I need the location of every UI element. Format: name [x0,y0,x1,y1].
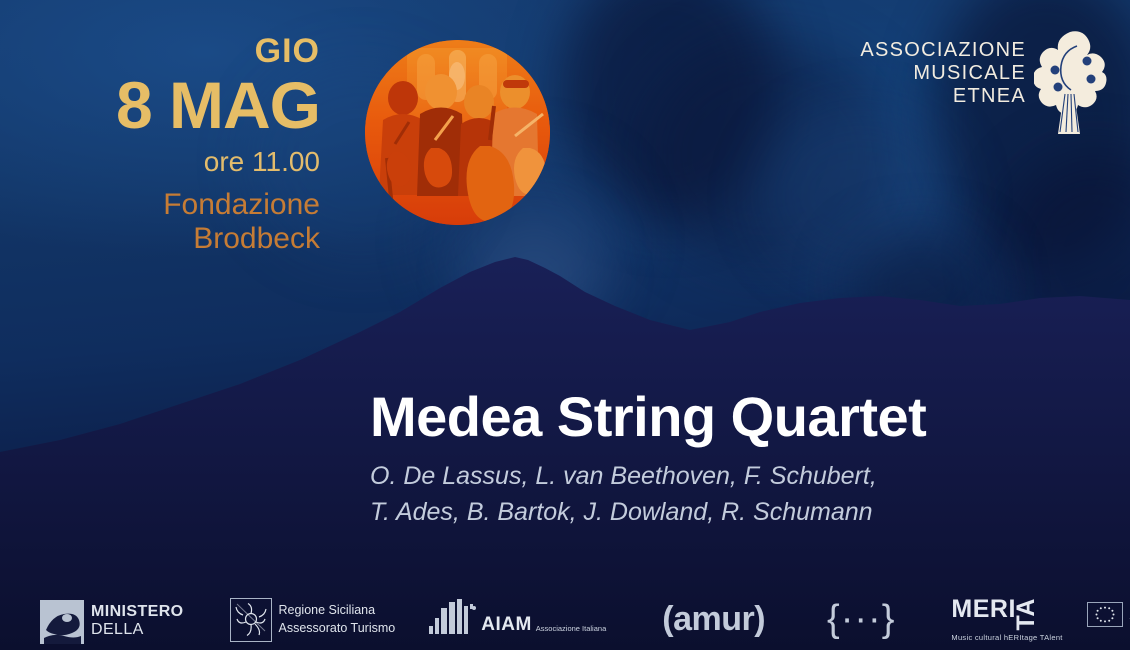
org-line-1: ASSOCIAZIONE [860,39,1026,62]
logo-aiam: AIAM Associazione Italiana [429,590,606,634]
event-venue: Fondazione Brodbeck [20,188,320,255]
ministero-line-2: DELLA [91,621,184,639]
event-weekday: GIO [20,34,320,68]
org-line-2: MUSICALE [860,62,1026,85]
venue-line-2: Brodbeck [20,222,320,256]
org-line-3: ETNEA [860,85,1026,108]
equalizer-bars-icon [429,598,477,634]
logo-regione-siciliana: Regione Siciliana Assessorato Turismo [230,590,396,642]
associazione-musicale-etnea-logo: ASSOCIAZIONE MUSICALE ETNEA [860,30,1108,134]
merita-subtitle: Music cultural hERItage TAlent [951,633,1062,642]
quartet-photo [365,40,550,225]
composers-line-2: T. Ades, B. Bartok, J. Dowland, R. Schum… [370,495,1110,531]
merita-name: MERI [951,598,1016,621]
aiam-name: AIAM [481,615,532,634]
composers-list: O. De Lassus, L. van Beethoven, F. Schub… [370,459,1110,530]
regione-label: Regione Siciliana Assessorato Turismo [279,598,396,638]
merita-rotated-suffix: TA [1015,598,1038,630]
regione-line-1: Regione Siciliana [279,602,396,620]
violin-scroll-icon [1034,30,1108,134]
ministero-label: MINISTERO DELLA [91,600,184,639]
ministero-line-1: MINISTERO [91,603,184,621]
sponsor-logo-bar: MINISTERO DELLA [0,590,1130,650]
regione-line-2: Assessorato Turismo [279,620,396,638]
ministero-emblem-icon [40,600,84,644]
logo-ministero-della-cultura: MINISTERO DELLA [40,590,184,644]
event-day-month: 8 MAG [20,72,320,138]
trinacria-icon [230,598,272,642]
page-title: Medea String Quartet [370,388,1110,445]
logo-amur: (amur) [662,590,765,636]
logo-merita: MERI TA Music cultural hERItage TAlent [951,590,1062,642]
aiam-subtitle: Associazione Italiana [536,624,606,634]
event-time: ore 11.00 [20,148,320,176]
event-title-block: Medea String Quartet O. De Lassus, L. va… [370,388,1110,530]
eu-flag-icon [1087,602,1123,627]
concert-poster: GIO 8 MAG ore 11.00 Fondazione Brodbeck [0,0,1130,650]
event-date-block: GIO 8 MAG ore 11.00 Fondazione Brodbeck [20,34,320,255]
venue-line-1: Fondazione [20,188,320,222]
organization-name: ASSOCIAZIONE MUSICALE ETNEA [860,30,1026,109]
composers-line-1: O. De Lassus, L. van Beethoven, F. Schub… [370,459,1110,495]
logo-european-union: Co-funded by the European Union [1087,590,1130,628]
logo-braces: {···} [827,590,895,638]
